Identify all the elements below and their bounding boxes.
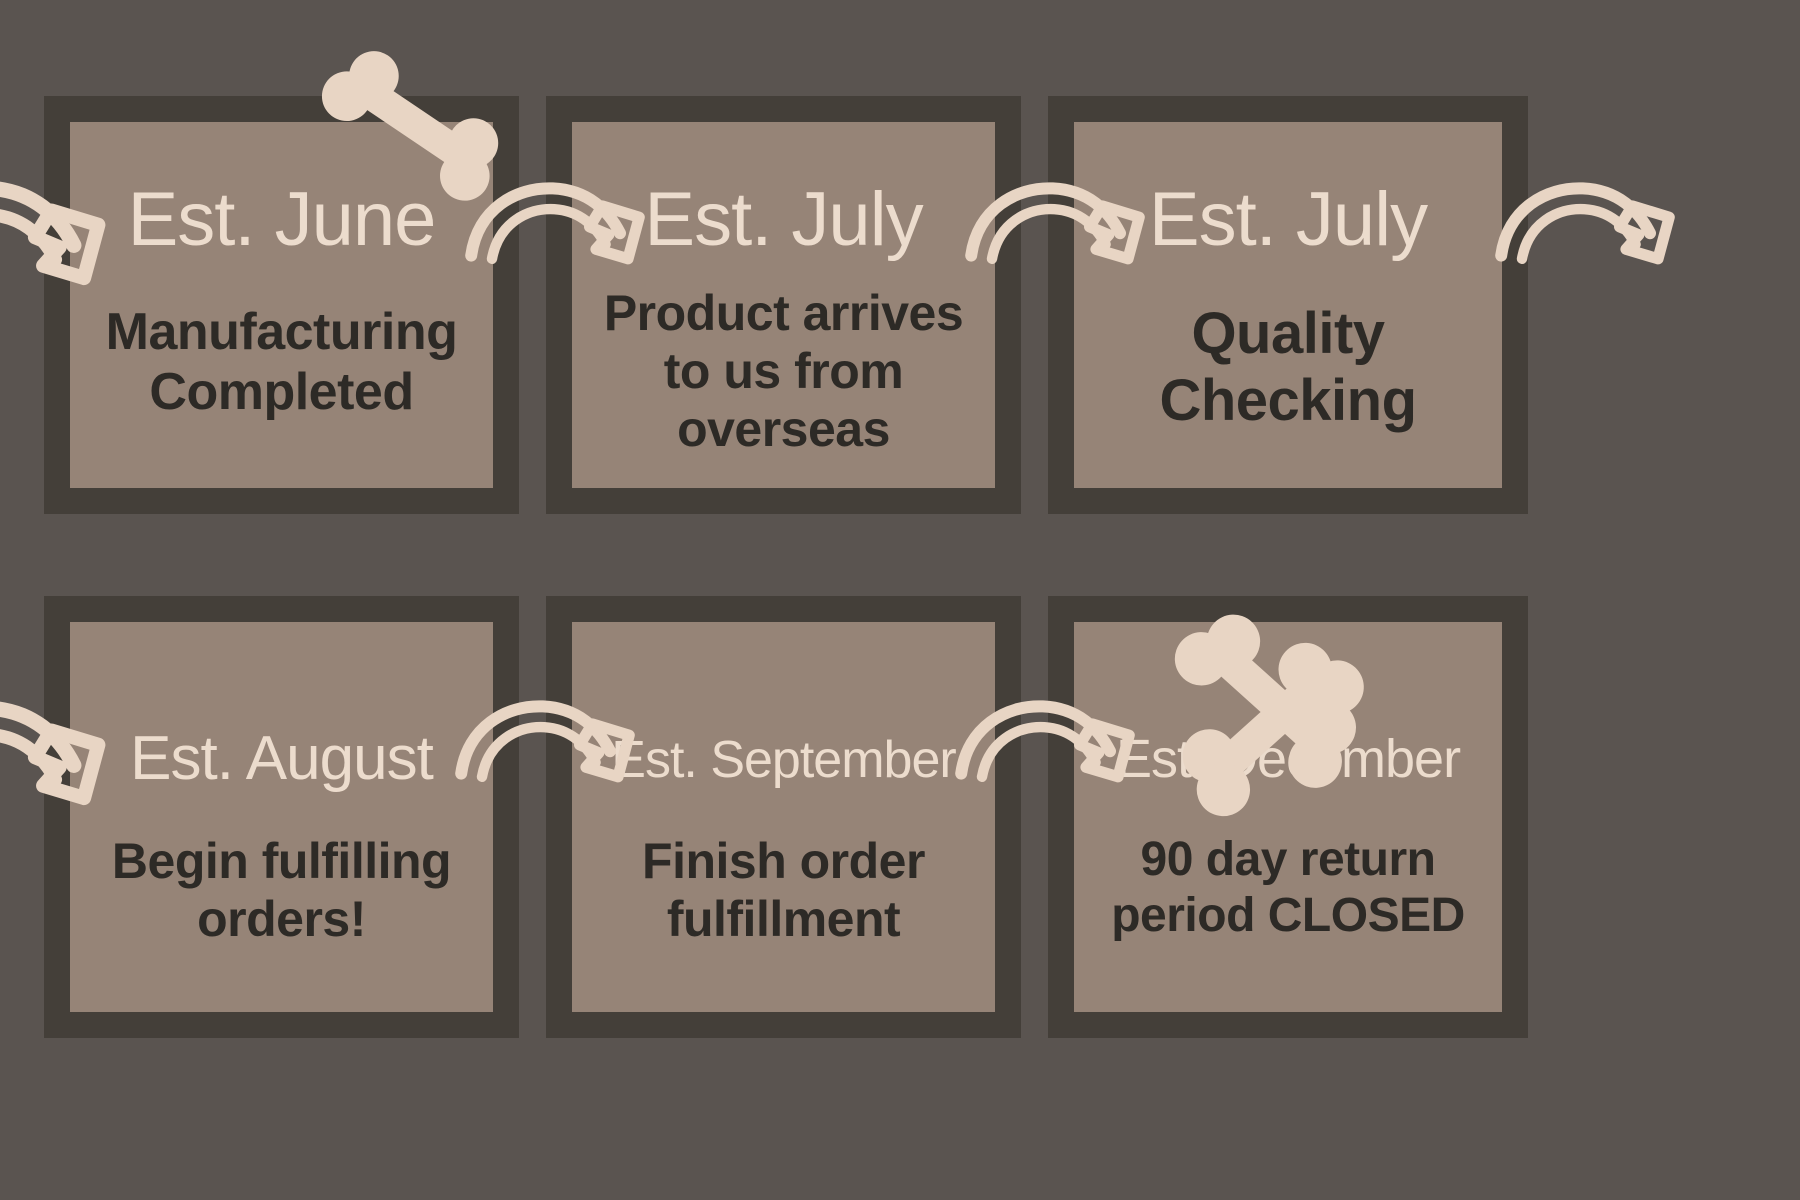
timeline-step-finish-fulfillment: Est. September Finish orderfulfillment: [546, 596, 1021, 1038]
card-inner: Est. December 90 day returnperiod CLOSED: [1074, 622, 1502, 1012]
card-inner: Est. June ManufacturingCompleted: [70, 122, 493, 488]
card-inner: Est. July Product arrivesto us fromovers…: [572, 122, 995, 488]
card-inner: Est. August Begin fulfillingorders!: [70, 622, 493, 1012]
step-body-text: Product arrivesto us fromoverseas: [572, 284, 995, 458]
step-eyebrow: Est. July: [644, 182, 922, 258]
timeline-step-return-period-closed: Est. December 90 day returnperiod CLOSED: [1048, 596, 1528, 1038]
infographic-canvas: Est. June ManufacturingCompleted Est. Ju…: [0, 0, 1800, 1200]
timeline-step-quality-checking: Est. July QualityChecking: [1048, 96, 1528, 514]
timeline-step-begin-fulfilling: Est. August Begin fulfillingorders!: [44, 596, 519, 1038]
step-body-text: QualityChecking: [1074, 300, 1502, 435]
step-eyebrow: Est. September: [611, 734, 955, 786]
timeline-grid: Est. June ManufacturingCompleted Est. Ju…: [0, 0, 1800, 1200]
timeline-step-manufacturing-completed: Est. June ManufacturingCompleted: [44, 96, 519, 514]
step-body-text: Finish orderfulfillment: [572, 832, 995, 948]
step-eyebrow: Est. December: [1116, 732, 1460, 786]
card-inner: Est. September Finish orderfulfillment: [572, 622, 995, 1012]
timeline-step-product-arrives: Est. July Product arrivesto us fromovers…: [546, 96, 1021, 514]
step-body-text: ManufacturingCompleted: [70, 302, 493, 423]
step-eyebrow: Est. June: [128, 182, 436, 258]
card-inner: Est. July QualityChecking: [1074, 122, 1502, 488]
step-body-text: 90 day returnperiod CLOSED: [1074, 832, 1502, 943]
step-eyebrow: Est. July: [1149, 182, 1427, 258]
step-eyebrow: Est. August: [130, 728, 433, 790]
step-body-text: Begin fulfillingorders!: [70, 832, 493, 948]
